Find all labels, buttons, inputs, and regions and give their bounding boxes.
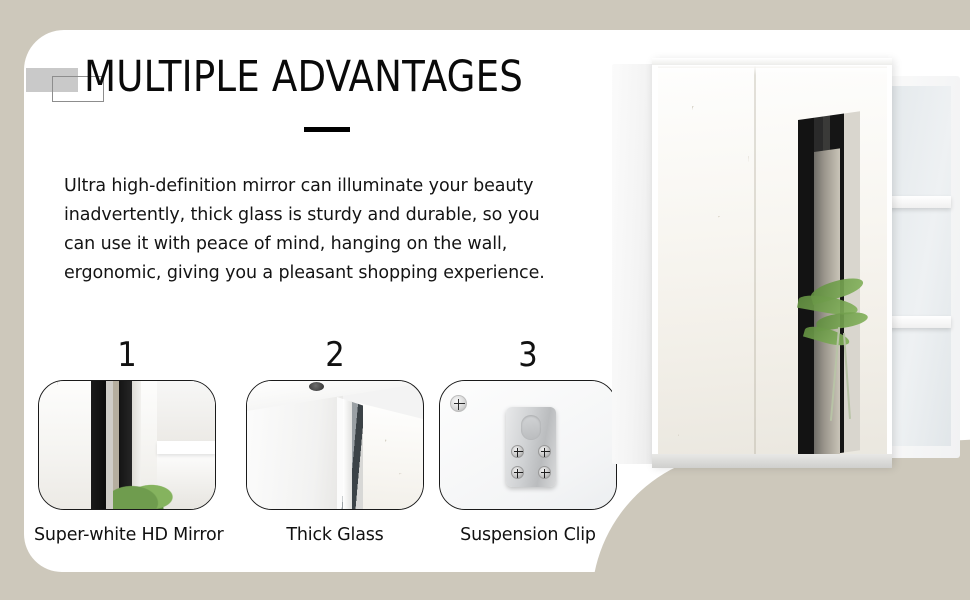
mirror-light-band — [106, 381, 113, 509]
plant-stem — [843, 333, 851, 419]
reflected-plant — [782, 275, 878, 425]
page-title: MULTIPLE ADVANTAGES — [84, 52, 523, 102]
marble-mirror-face — [359, 403, 424, 510]
cabinet-left-side — [612, 64, 656, 464]
cabinet-open-shelving — [880, 76, 960, 458]
feature-image-suspension-clip — [439, 380, 617, 510]
title-divider — [304, 127, 350, 132]
feature-image-glass-corner — [246, 380, 424, 510]
feature-caption: Suspension Clip — [439, 525, 617, 545]
hinge-screw — [309, 382, 324, 391]
shelf-back-panel — [888, 86, 951, 446]
cabinet-shelf — [157, 441, 215, 454]
clip-screw-icon — [511, 445, 524, 458]
feature-number: 2 — [246, 335, 424, 375]
clip-screw-icon — [511, 466, 524, 479]
clip-screw-icon — [538, 445, 551, 458]
keyhole-slot — [521, 415, 541, 440]
feature-caption: Thick Glass — [246, 525, 424, 545]
description-line: Ultra high-definition mirror can illumin… — [64, 172, 584, 201]
suspension-clip-plate — [506, 407, 556, 487]
description-line: inadvertently, thick glass is sturdy and… — [64, 201, 584, 230]
mirror-surface — [658, 66, 887, 459]
reflected-tile-seam — [754, 66, 756, 459]
mirror-highlight — [658, 66, 887, 75]
product-photo — [612, 58, 960, 470]
feature-image-mirror-edge — [38, 380, 216, 510]
mirror-dark-band — [91, 381, 106, 509]
cabinet-shelf — [888, 196, 951, 208]
cabinet-mirror-door — [652, 58, 892, 466]
cabinet-top-rail — [652, 58, 892, 65]
feature-number: 3 — [439, 335, 617, 375]
feature-card-list: 1 Super-white HD Mirror 2 — [24, 335, 624, 575]
clip-screw-icon — [538, 466, 551, 479]
cabinet-bottom-rail — [652, 454, 892, 468]
description-line: can use it with peace of mind, hanging o… — [64, 230, 584, 259]
feature-caption: Super-white HD Mirror — [34, 525, 220, 545]
corner-screw-icon — [450, 395, 467, 412]
description-text: Ultra high-definition mirror can illumin… — [64, 172, 584, 288]
plant-foliage — [113, 475, 175, 510]
description-line: ergonomic, giving you a pleasant shoppin… — [64, 259, 584, 288]
feature-number: 1 — [38, 335, 216, 375]
cabinet-shelf — [888, 316, 951, 328]
door-rim — [343, 399, 352, 510]
